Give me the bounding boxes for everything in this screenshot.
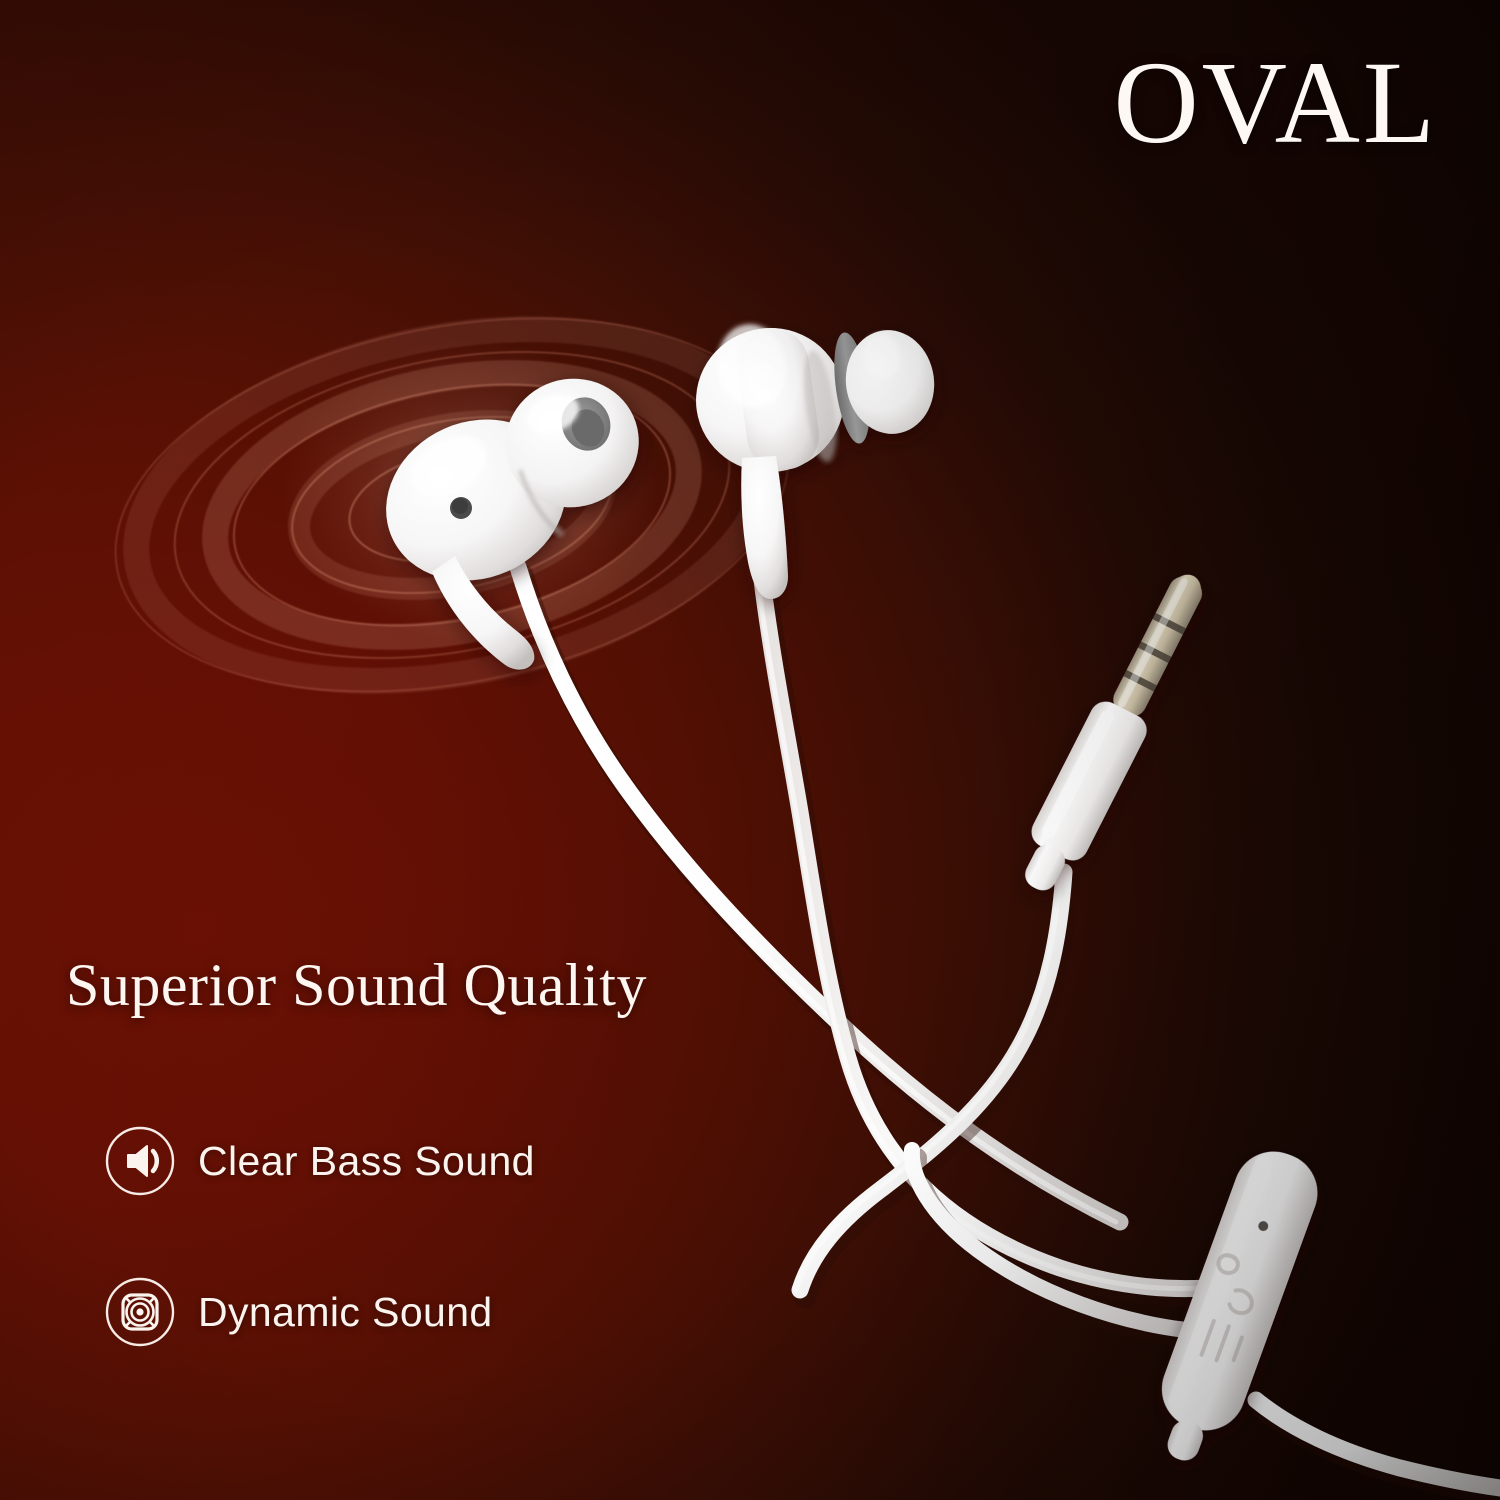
feature-item-clear-bass-sound: Clear Bass Sound — [104, 1125, 535, 1197]
brand-logo: OVAL — [1113, 44, 1438, 162]
headline-text: Superior Sound Quality — [66, 955, 647, 1015]
background-overlay — [0, 0, 1500, 1500]
feature-label: Clear Bass Sound — [198, 1138, 535, 1185]
feature-label: Dynamic Sound — [198, 1289, 493, 1336]
speaker-driver-icon — [104, 1276, 176, 1348]
feature-item-dynamic-sound: Dynamic Sound — [104, 1276, 493, 1348]
product-banner: OVAL Superior Sound Quality Clear Bass S… — [0, 0, 1500, 1500]
speaker-volume-icon — [104, 1125, 176, 1197]
